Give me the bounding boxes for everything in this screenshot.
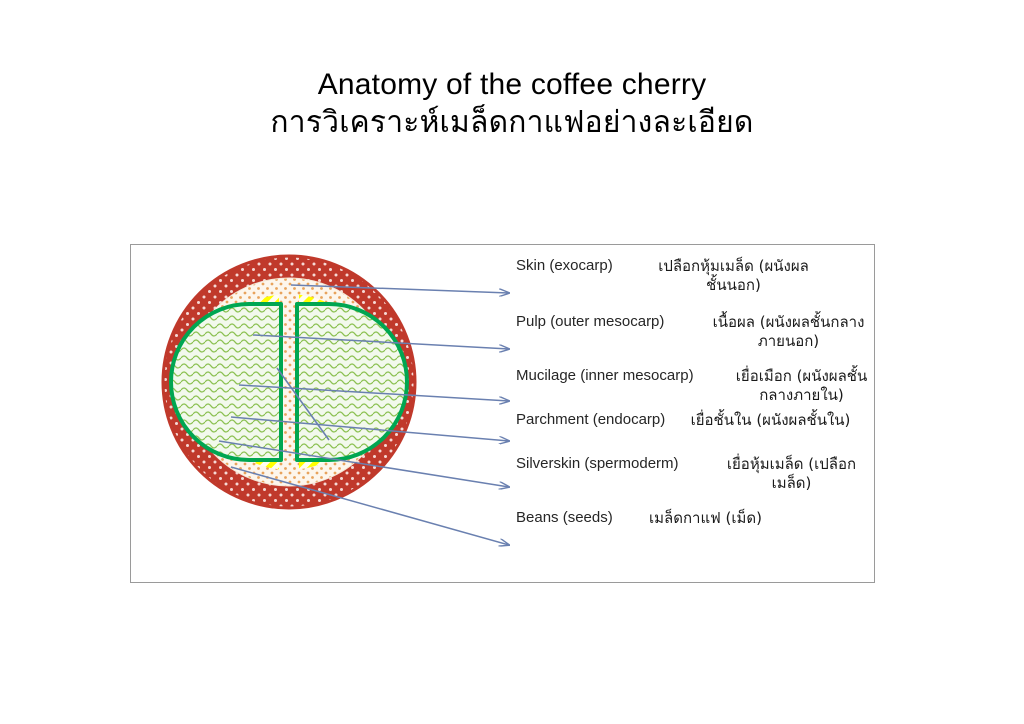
label-skin-thai: เปลือกหุ้มเมล็ด (ผนังผลชั้นนอก) [651,257,816,295]
label-parchment-thai: เยื่อชั้นใน (ผนังผลชั้นใน) [683,411,858,430]
label-beans-english: Beans (seeds) [516,509,613,527]
label-parchment-english: Parchment (endocarp) [516,411,665,429]
label-silverskin-thai: เยื่อหุ้มเมล็ด (เปลือกเมล็ด) [709,455,874,493]
label-pulp-thai: เนื้อผล (ผนังผลชั้นกลางภายนอก) [706,313,871,351]
label-skin-english: Skin (exocarp) [516,257,613,275]
page-title: Anatomy of the coffee cherry การวิเคราะห… [0,66,1024,143]
coffee-cherry-diagram [157,250,421,514]
figure-frame: Skin (exocarp) Pulp (outer mesocarp) Muc… [130,244,875,583]
label-mucilage-thai: เยื่อเมือก (ผนังผลชั้นกลางภายใน) [719,367,884,405]
label-beans-thai: เมล็ดกาแฟ (เม็ด) [649,509,819,528]
page-title-english: Anatomy of the coffee cherry [0,66,1024,104]
page-title-thai: การวิเคราะห์เมล็ดกาแฟอย่างละเอียด [0,104,1024,142]
label-pulp-english: Pulp (outer mesocarp) [516,313,664,331]
label-silverskin-english: Silverskin (spermoderm) [516,455,679,473]
label-mucilage-english: Mucilage (inner mesocarp) [516,367,694,385]
